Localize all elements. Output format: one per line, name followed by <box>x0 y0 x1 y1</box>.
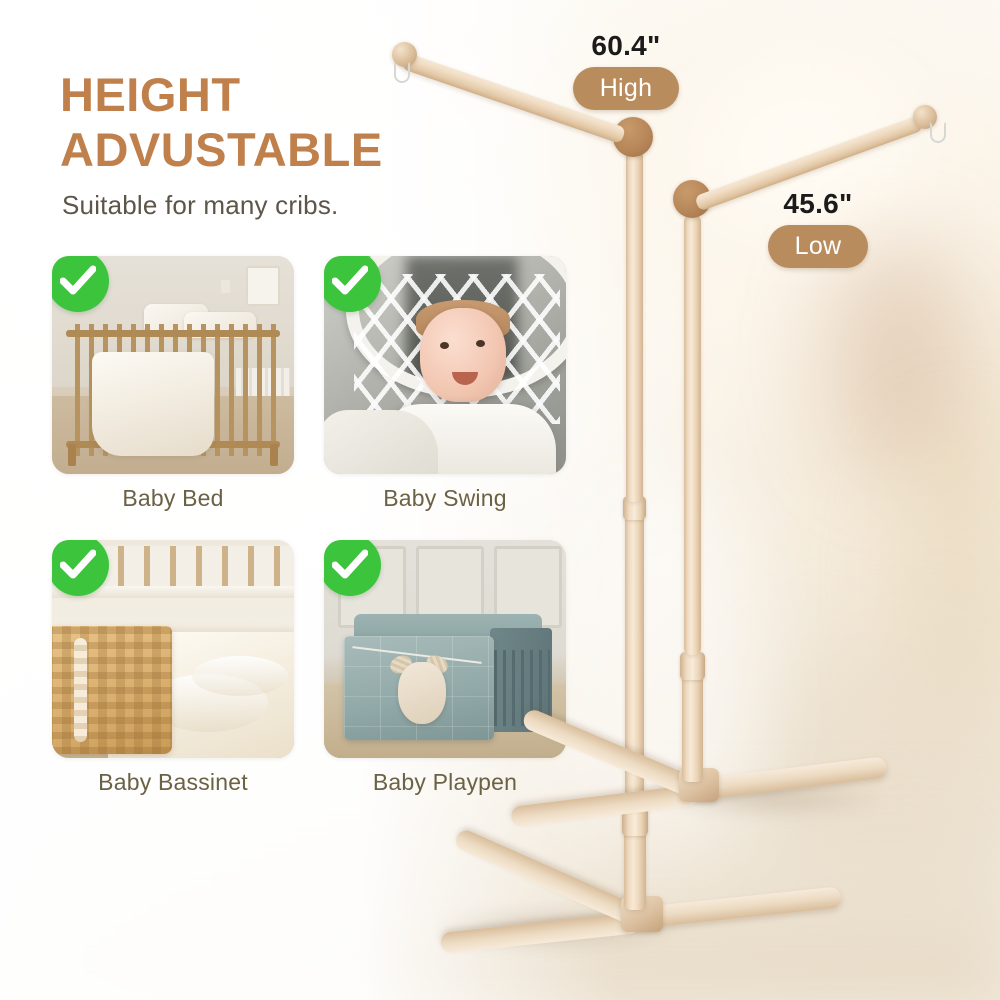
callout-high-value: 60.4" <box>556 30 696 62</box>
baby-face <box>420 308 506 402</box>
callout-low: 45.6" Low <box>748 188 888 268</box>
baby-blanket <box>324 410 438 474</box>
stand-low <box>0 0 1000 1000</box>
stand-low-pole-upper <box>684 215 701 655</box>
callout-low-value: 45.6" <box>748 188 888 220</box>
callout-high: 60.4" High <box>556 30 696 110</box>
stand-low-hanging-hook <box>930 122 946 143</box>
bunny-plush-toy <box>398 662 446 724</box>
baby-eye <box>440 342 449 349</box>
product-infographic: HEIGHT ADVUSTABLE Suitable for many crib… <box>0 0 1000 1000</box>
callout-low-badge: Low <box>768 225 869 268</box>
stand-low-sleeve-lower <box>680 652 705 680</box>
baby-eye <box>476 340 485 347</box>
stand-low-foot-left <box>510 784 699 828</box>
stand-low-foot-rear <box>521 707 699 798</box>
callout-high-badge: High <box>573 67 680 110</box>
